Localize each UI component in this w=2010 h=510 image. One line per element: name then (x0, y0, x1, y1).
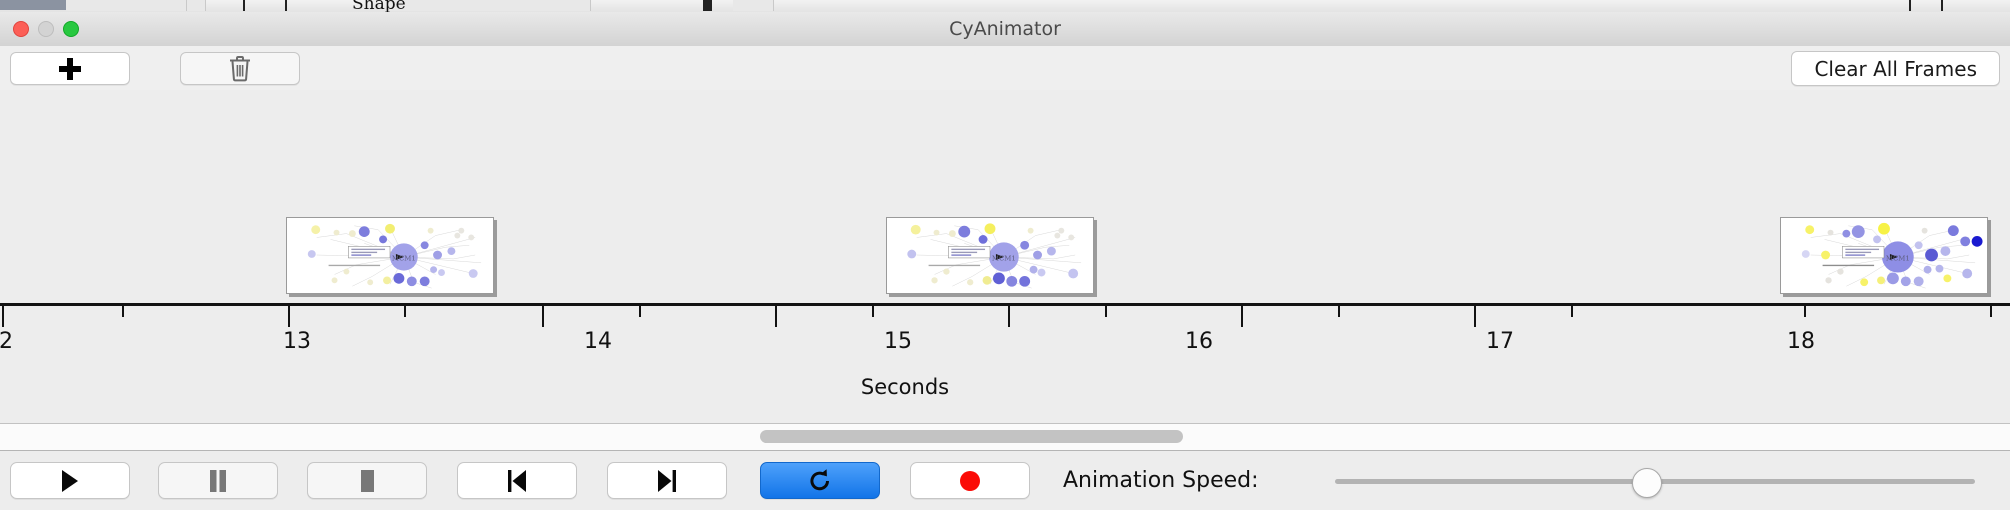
axis-tick-minor (1571, 306, 1573, 317)
cyanimator-window: Shape CyAnimator Clear All Frames (0, 0, 2010, 510)
pause-button[interactable] (158, 462, 278, 499)
axis-tick-major (1008, 306, 1010, 327)
timeline-scrollbar-thumb[interactable] (760, 430, 1183, 443)
background-window-segment (733, 0, 774, 11)
axis-tick-minor (1105, 306, 1107, 317)
timeline-axis: 2 13 14 15 16 17 18 (0, 303, 2010, 365)
loop-icon (807, 468, 833, 494)
delete-frame-button[interactable] (180, 52, 300, 85)
network-thumbnail: MCM1 (287, 218, 493, 293)
animation-speed-slider-thumb[interactable] (1632, 468, 1662, 498)
record-button[interactable] (910, 462, 1030, 499)
skip-start-button[interactable] (457, 462, 577, 499)
axis-tick-label: 17 (1486, 329, 1514, 354)
skip-end-button[interactable] (607, 462, 727, 499)
title-bar: CyAnimator (0, 12, 2010, 47)
background-window-tick (703, 0, 712, 11)
play-icon (59, 469, 81, 493)
background-window-segment (390, 0, 591, 11)
axis-tick-minor (872, 306, 874, 317)
plus-icon (59, 58, 81, 80)
axis-tick-label: 2 (0, 329, 13, 354)
network-thumbnail: MCM1 (1781, 218, 1987, 293)
window-title: CyAnimator (0, 12, 2010, 46)
thumbnail-hub-label: MCM1 (392, 254, 416, 262)
stop-button[interactable] (307, 462, 427, 499)
axis-tick-major (775, 306, 777, 327)
play-button[interactable] (10, 462, 130, 499)
axis-tick-label: 16 (1185, 329, 1213, 354)
stop-icon (356, 469, 378, 493)
add-frame-button[interactable] (10, 52, 130, 85)
skip-start-icon (505, 469, 529, 493)
background-window-tick (285, 0, 287, 11)
axis-tick-major (1241, 306, 1243, 327)
timeline-frame-1[interactable]: MCM1 (286, 217, 494, 294)
skip-end-icon (655, 469, 679, 493)
background-window-tick (243, 0, 245, 11)
loop-button[interactable] (760, 462, 880, 499)
axis-tick-minor (639, 306, 641, 317)
axis-tick-minor (404, 306, 406, 317)
axis-tick-label: 18 (1787, 329, 1815, 354)
axis-title-wrapper: Seconds (0, 375, 2010, 399)
axis-tick-minor (1338, 306, 1340, 317)
timeline-panel[interactable]: MCM1 (0, 90, 2010, 424)
background-window-tick (1909, 0, 1911, 11)
axis-tick-major (288, 306, 290, 327)
playback-control-bar: Animation Speed: (0, 451, 2010, 510)
clear-all-frames-button[interactable]: Clear All Frames (1791, 51, 2000, 86)
axis-tick-minor (1804, 306, 1806, 317)
thumbnail-hub-label: MCM1 (992, 254, 1016, 262)
axis-tick-label: 14 (584, 329, 612, 354)
background-window-segment (187, 0, 206, 11)
pause-icon (207, 469, 229, 493)
axis-tick-major (542, 306, 544, 327)
timeline-frame-3[interactable]: MCM1 (1780, 217, 1988, 294)
axis-tick-label: 13 (283, 329, 311, 354)
network-thumbnail: MCM1 (887, 218, 1093, 293)
axis-tick-major (1474, 306, 1476, 327)
toolbar: Clear All Frames (0, 46, 2010, 91)
record-icon (958, 469, 982, 493)
axis-tick-minor (122, 306, 124, 317)
frames-layer: MCM1 (0, 90, 2010, 305)
timeline-frame-2[interactable]: MCM1 (886, 217, 1094, 294)
thumbnail-hub-label: MCM1 (1886, 254, 1910, 262)
timeline-scrollbar[interactable] (0, 424, 2010, 451)
animation-speed-label: Animation Speed: (1063, 451, 1259, 510)
background-window-segment (66, 0, 187, 11)
trash-icon (228, 55, 252, 82)
axis-tick-major (2, 306, 4, 327)
axis-tick-minor (1990, 306, 1992, 317)
axis-title: Seconds (861, 375, 949, 399)
background-window-tick (1941, 0, 1943, 11)
axis-line (0, 303, 2010, 306)
axis-tick-label: 15 (884, 329, 912, 354)
background-window-selected-tab (0, 0, 66, 10)
